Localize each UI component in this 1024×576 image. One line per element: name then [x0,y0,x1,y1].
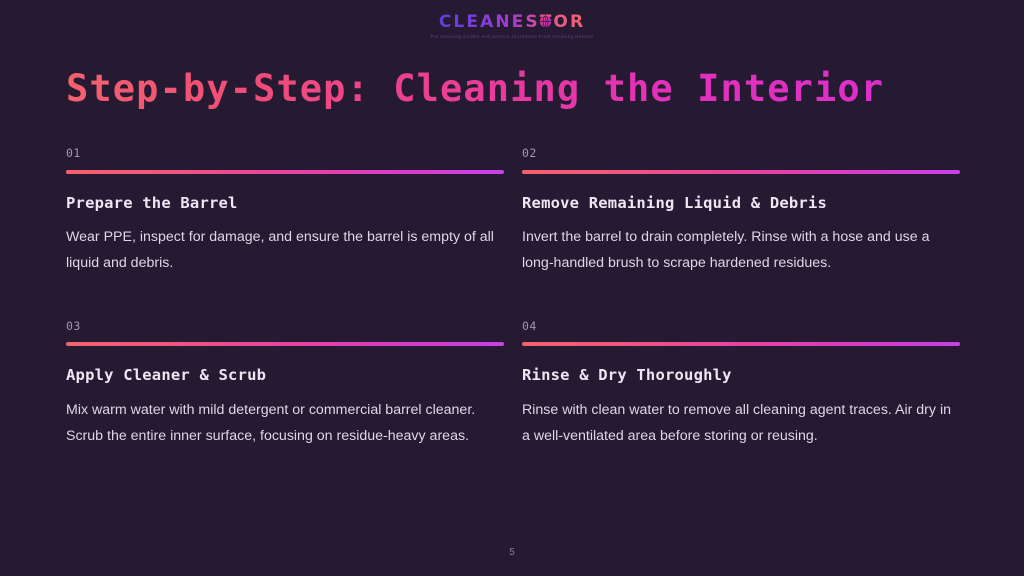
step-card-01: 01 Prepare the Barrel Wear PPE, inspect … [66,148,504,277]
step-number: 04 [522,321,960,333]
step-heading: Remove Remaining Liquid & Debris [522,194,960,213]
globe-icon [539,15,552,28]
page-number: 5 [0,548,1024,558]
step-heading: Apply Cleaner & Scrub [66,366,504,385]
step-body: Mix warm water with mild detergent or co… [66,398,496,450]
step-heading: Rinse & Dry Thoroughly [522,366,960,385]
step-card-02: 02 Remove Remaining Liquid & Debris Inve… [522,148,960,277]
brand-tagline: Pro Cleaning Guides And Service Journali… [0,35,1024,39]
slide-canvas: CLEANESTOR Pro Cleaning Guides And Servi… [0,0,1024,576]
step-divider [522,342,960,346]
page-title: Step-by-Step: Cleaning the Interior [66,68,884,109]
brand-logo: CLEANESTOR Pro Cleaning Guides And Servi… [0,14,1024,39]
step-divider [66,342,504,346]
step-divider [66,170,504,174]
brand-wordmark-text: CLEANESTOR [439,12,585,32]
step-heading: Prepare the Barrel [66,194,504,213]
step-divider [522,170,960,174]
step-number: 02 [522,148,960,160]
brand-wordmark: CLEANESTOR [439,14,585,31]
step-number: 01 [66,148,504,160]
step-card-04: 04 Rinse & Dry Thoroughly Rinse with cle… [522,321,960,450]
step-body: Rinse with clean water to remove all cle… [522,398,952,450]
step-card-03: 03 Apply Cleaner & Scrub Mix warm water … [66,321,504,450]
steps-grid: 01 Prepare the Barrel Wear PPE, inspect … [66,148,960,450]
step-body: Wear PPE, inspect for damage, and ensure… [66,225,496,277]
step-body: Invert the barrel to drain completely. R… [522,225,952,277]
step-number: 03 [66,321,504,333]
